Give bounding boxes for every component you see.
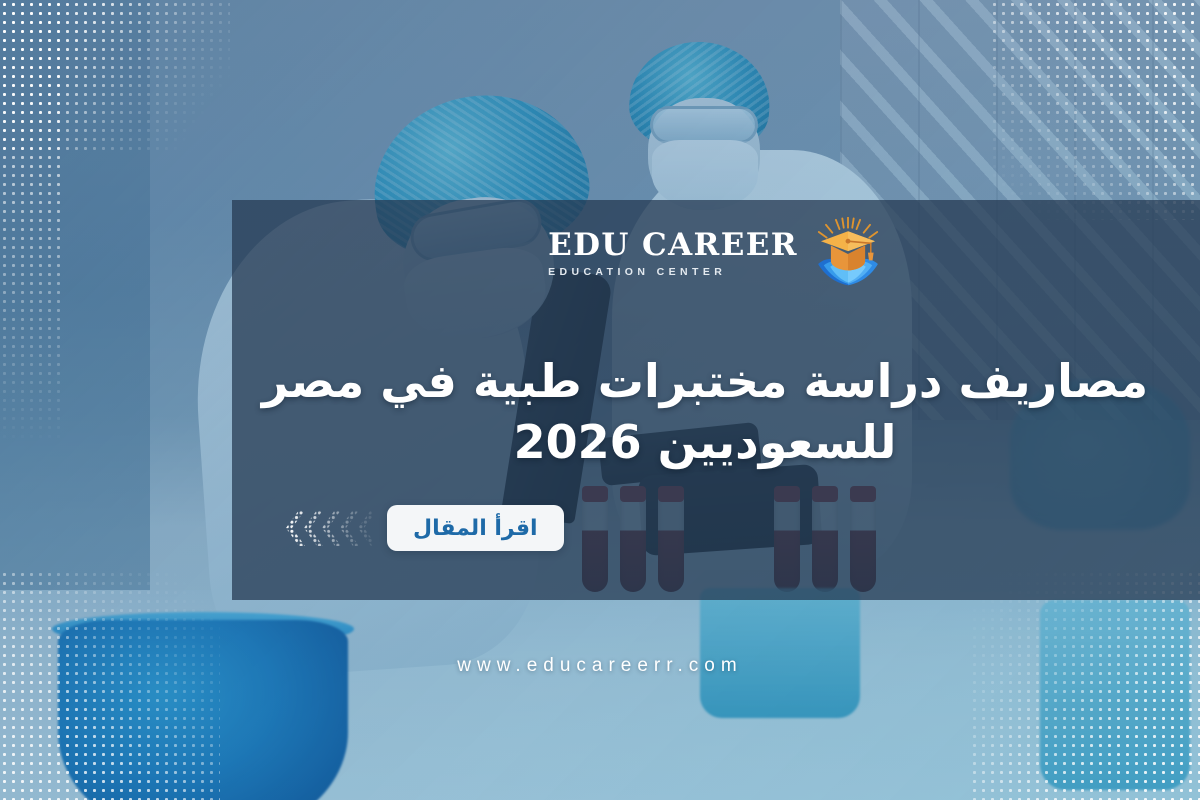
banner-canvas: EDU CAREER EDUCATION CENTER مصاريف دراسة… bbox=[0, 0, 1200, 800]
website-url[interactable]: www.educareerr.com bbox=[0, 655, 1200, 677]
brand-name: EDU CAREER bbox=[548, 230, 798, 261]
page-title: مصاريف دراسة مختبرات طبية في مصر للسعودي… bbox=[250, 351, 1160, 472]
brand-logo[interactable]: EDU CAREER EDUCATION CENTER bbox=[232, 212, 1200, 296]
cta-row: اقرأ المقال bbox=[285, 505, 564, 551]
brand-logo-text: EDU CAREER EDUCATION CENTER bbox=[548, 230, 798, 278]
dotted-chevrons-left-icon bbox=[285, 506, 373, 550]
brand-tagline: EDUCATION CENTER bbox=[548, 267, 798, 278]
read-article-button[interactable]: اقرأ المقال bbox=[387, 505, 564, 551]
graduation-cap-book-icon bbox=[812, 217, 884, 291]
